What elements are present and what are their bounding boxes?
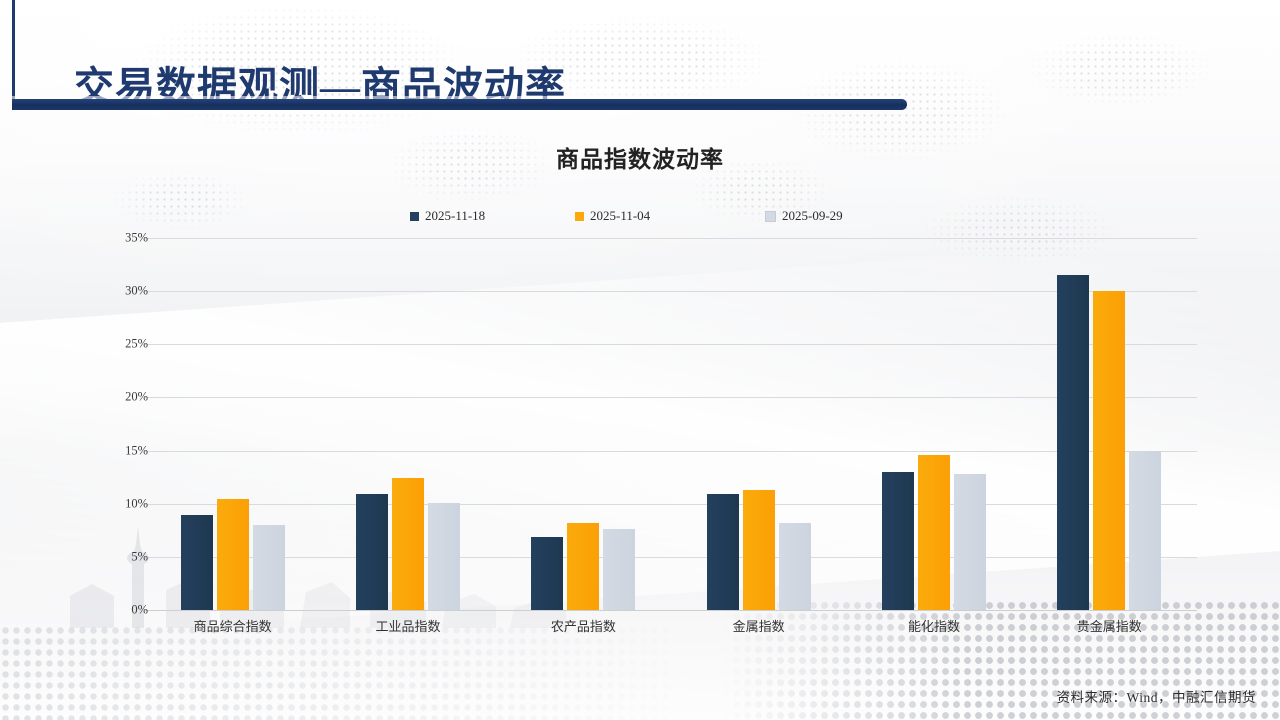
legend-label: 2025-11-04 xyxy=(590,208,650,224)
header-accent-line xyxy=(12,0,15,104)
bar-2025-09-29-贵金属指数[interactable] xyxy=(1129,451,1161,610)
bar-2025-09-29-金属指数[interactable] xyxy=(779,523,811,610)
bar-group xyxy=(1022,238,1197,610)
bar-2025-09-29-商品综合指数[interactable] xyxy=(253,525,285,610)
bar-groups xyxy=(145,238,1197,610)
bar-2025-11-04-农产品指数[interactable] xyxy=(567,523,599,610)
legend-swatch-icon xyxy=(765,211,776,222)
bar-2025-11-18-工业品指数[interactable] xyxy=(356,494,388,610)
y-axis-tick-label: 25% xyxy=(88,337,148,352)
source-note: 资料来源：Wind，中融汇信期货 xyxy=(1057,686,1256,706)
legend-label: 2025-09-29 xyxy=(782,208,843,224)
bar-set xyxy=(846,238,1021,610)
chart-legend: 2025-11-182025-11-042025-09-29 xyxy=(410,208,870,228)
y-axis-tick-label: 0% xyxy=(88,603,148,618)
bar-set xyxy=(145,238,320,610)
legend-item[interactable]: 2025-11-18 xyxy=(410,208,485,224)
bar-2025-09-29-农产品指数[interactable] xyxy=(603,529,635,610)
y-axis-tick-label: 15% xyxy=(88,443,148,458)
bar-2025-11-18-能化指数[interactable] xyxy=(882,472,914,610)
y-axis-tick-label: 20% xyxy=(88,390,148,405)
y-axis-tick-label: 30% xyxy=(88,284,148,299)
bar-2025-09-29-工业品指数[interactable] xyxy=(428,503,460,610)
bar-group xyxy=(145,238,320,610)
legend-label: 2025-11-18 xyxy=(425,208,485,224)
bar-2025-11-18-商品综合指数[interactable] xyxy=(181,515,213,610)
x-axis-tick-label: 金属指数 xyxy=(671,616,846,635)
bar-2025-11-04-商品综合指数[interactable] xyxy=(217,499,249,610)
bar-group xyxy=(496,238,671,610)
bar-set xyxy=(1022,238,1197,610)
slide-canvas: 交易数据观测—商品波动率 商品指数波动率 2025-11-182025-11-0… xyxy=(0,0,1280,720)
y-axis-tick-label: 35% xyxy=(88,231,148,246)
title-underline-bar xyxy=(12,99,907,110)
gridline xyxy=(145,610,1197,611)
legend-swatch-icon xyxy=(410,212,419,221)
chart-title: 商品指数波动率 xyxy=(0,140,1280,174)
x-axis-tick-label: 能化指数 xyxy=(846,616,1021,635)
bar-set xyxy=(320,238,495,610)
x-axis-tick-label: 贵金属指数 xyxy=(1022,616,1197,635)
bar-2025-11-04-贵金属指数[interactable] xyxy=(1093,291,1125,610)
legend-swatch-icon xyxy=(575,212,584,221)
x-axis-tick-label: 农产品指数 xyxy=(496,616,671,635)
bar-2025-11-18-金属指数[interactable] xyxy=(707,494,739,610)
x-axis-tick-label: 工业品指数 xyxy=(320,616,495,635)
x-axis-labels: 商品综合指数工业品指数农产品指数金属指数能化指数贵金属指数 xyxy=(145,616,1197,635)
bar-group xyxy=(846,238,1021,610)
bar-group xyxy=(320,238,495,610)
chart-plot-area: 0%5%10%15%20%25%30%35% xyxy=(145,238,1197,610)
legend-item[interactable]: 2025-11-04 xyxy=(575,208,650,224)
x-axis-tick-label: 商品综合指数 xyxy=(145,616,320,635)
bar-set xyxy=(496,238,671,610)
bar-2025-11-04-能化指数[interactable] xyxy=(918,455,950,610)
bar-set xyxy=(671,238,846,610)
y-axis-tick-label: 5% xyxy=(88,549,148,564)
y-axis-tick-label: 10% xyxy=(88,496,148,511)
legend-item[interactable]: 2025-09-29 xyxy=(765,208,843,224)
bar-group xyxy=(671,238,846,610)
bar-2025-11-18-贵金属指数[interactable] xyxy=(1057,275,1089,610)
halftone-texture-left xyxy=(0,625,760,720)
bar-2025-11-04-金属指数[interactable] xyxy=(743,490,775,610)
bar-2025-11-18-农产品指数[interactable] xyxy=(531,537,563,610)
bar-2025-11-04-工业品指数[interactable] xyxy=(392,478,424,610)
bar-2025-09-29-能化指数[interactable] xyxy=(954,474,986,610)
